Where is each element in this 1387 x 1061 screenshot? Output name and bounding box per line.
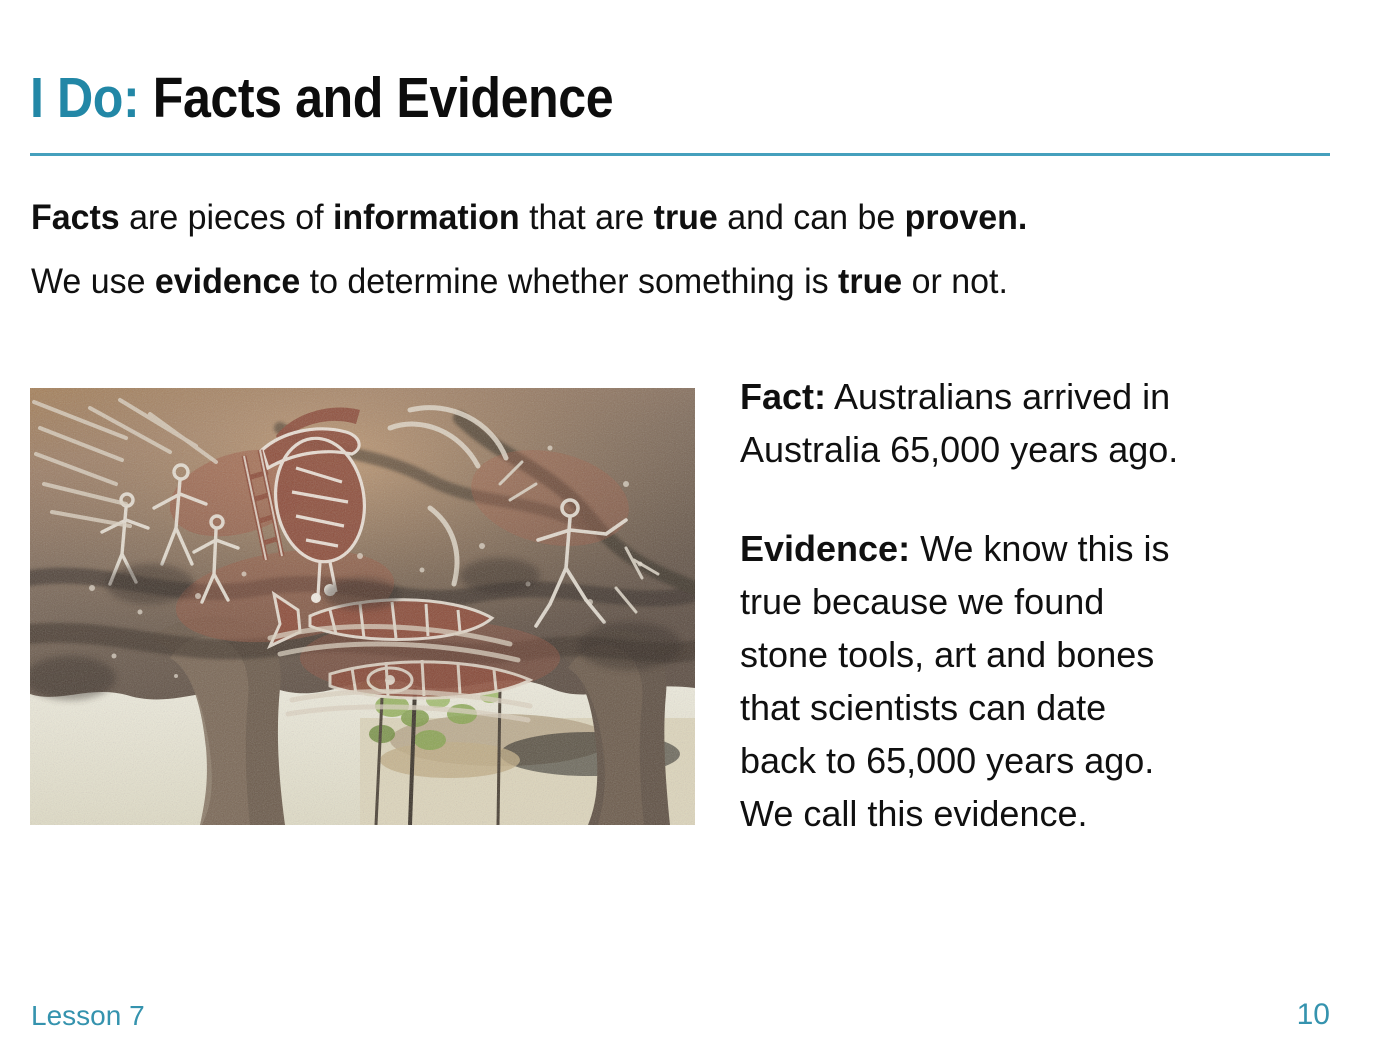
intro-paragraph: Facts are pieces of information that are…	[31, 186, 1351, 314]
title-divider-rule	[30, 153, 1330, 156]
lesson-label: Lesson 7	[31, 1000, 145, 1032]
page-title: I Do: Facts and Evidence	[30, 62, 1340, 140]
rock-art-illustration	[30, 388, 695, 825]
block-spacer	[740, 476, 1340, 522]
fact-block: Fact: Australians arrived in Australia 6…	[740, 370, 1340, 476]
title-main-text: Facts and Evidence	[153, 66, 613, 130]
title-accent-text: I Do:	[30, 66, 139, 130]
evidence-line-4: that scientists can date	[740, 681, 1340, 734]
evidence-block: Evidence: We know this is true because w…	[740, 522, 1340, 840]
evidence-line-3: stone tools, art and bones	[740, 628, 1340, 681]
intro-line-1: Facts are pieces of information that are…	[31, 186, 1311, 250]
evidence-line-2: true because we found	[740, 575, 1340, 628]
fact-line-2: Australia 65,000 years ago.	[740, 423, 1340, 476]
fact-evidence-column: Fact: Australians arrived in Australia 6…	[740, 370, 1340, 840]
evidence-line-6: We call this evidence.	[740, 787, 1340, 840]
rock-art-photo	[30, 388, 695, 825]
fact-line-1: Fact: Australians arrived in	[740, 370, 1340, 423]
page-number: 10	[1297, 998, 1330, 1032]
slide-canvas: I Do: Facts and Evidence Facts are piece…	[0, 0, 1387, 1061]
evidence-line-1: Evidence: We know this is	[740, 522, 1340, 575]
intro-line-2: We use evidence to determine whether som…	[31, 250, 1311, 314]
evidence-line-5: back to 65,000 years ago.	[740, 734, 1340, 787]
